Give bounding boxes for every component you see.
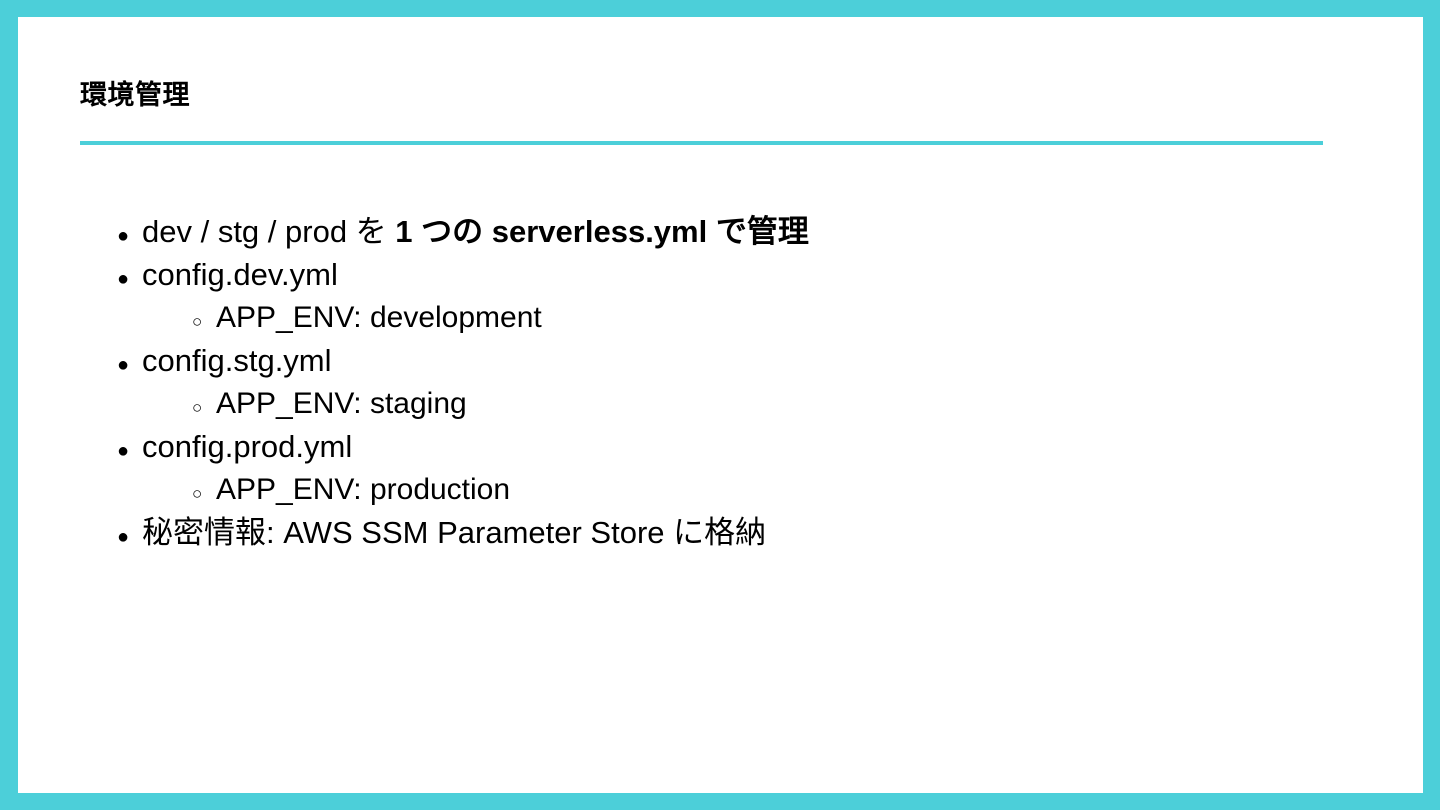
slide-frame: 環境管理 ●dev / stg / prod を 1 つの serverless… bbox=[0, 0, 1440, 810]
list-item: ●config.dev.yml bbox=[80, 256, 1360, 299]
list-item-label: 秘密情報: AWS SSM Parameter Store に格納 bbox=[142, 514, 766, 552]
filled-bullet-icon: ● bbox=[80, 226, 142, 246]
list-item: ○APP_ENV: staging bbox=[80, 385, 1360, 428]
list-item-label: dev / stg / prod を 1 つの serverless.yml で… bbox=[142, 213, 809, 251]
title-underline-rule bbox=[80, 141, 1323, 145]
list-item-label: config.dev.yml bbox=[142, 256, 338, 294]
list-item: ●秘密情報: AWS SSM Parameter Store に格納 bbox=[80, 514, 1360, 557]
slide-content-area: 環境管理 ●dev / stg / prod を 1 つの serverless… bbox=[18, 17, 1423, 793]
list-item: ●config.prod.yml bbox=[80, 428, 1360, 471]
hollow-bullet-icon: ○ bbox=[80, 313, 216, 330]
page-title: 環境管理 bbox=[80, 79, 190, 111]
list-item-label: APP_ENV: development bbox=[216, 299, 542, 337]
list-item-label: APP_ENV: staging bbox=[216, 385, 467, 423]
list-item-label: config.stg.yml bbox=[142, 342, 332, 380]
filled-bullet-icon: ● bbox=[80, 355, 142, 375]
bullet-list: ●dev / stg / prod を 1 つの serverless.yml … bbox=[80, 213, 1360, 557]
list-item-label: APP_ENV: production bbox=[216, 471, 510, 509]
filled-bullet-icon: ● bbox=[80, 527, 142, 547]
hollow-bullet-icon: ○ bbox=[80, 399, 216, 416]
filled-bullet-icon: ● bbox=[80, 441, 142, 461]
list-item: ●dev / stg / prod を 1 つの serverless.yml … bbox=[80, 213, 1360, 256]
list-item-text-emphasis: 1 つの serverless.yml で管理 bbox=[395, 214, 809, 249]
list-item: ●config.stg.yml bbox=[80, 342, 1360, 385]
list-item: ○APP_ENV: development bbox=[80, 299, 1360, 342]
list-item-text-normal: dev / stg / prod を bbox=[142, 214, 395, 249]
list-item: ○APP_ENV: production bbox=[80, 471, 1360, 514]
filled-bullet-icon: ● bbox=[80, 269, 142, 289]
list-item-label: config.prod.yml bbox=[142, 428, 352, 466]
hollow-bullet-icon: ○ bbox=[80, 485, 216, 502]
